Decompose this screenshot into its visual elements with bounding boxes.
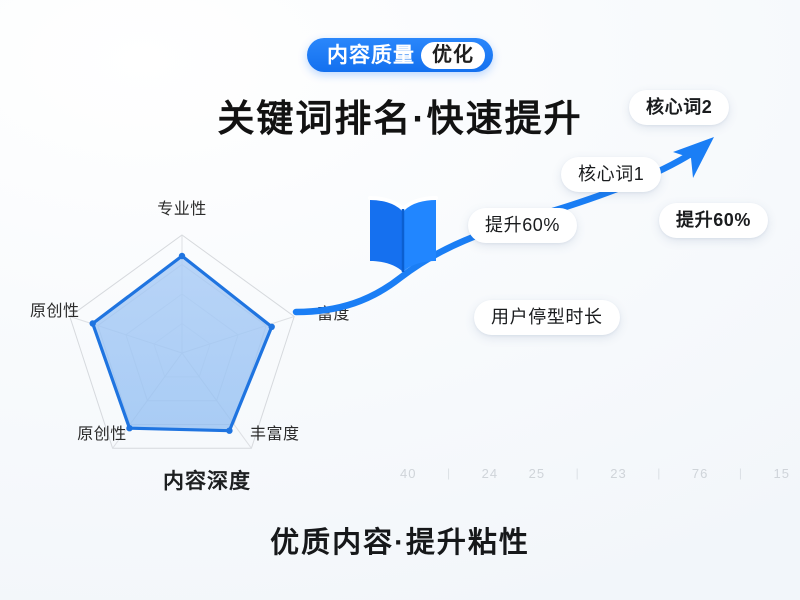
tick-label: 24 <box>482 466 498 481</box>
radar-chart: 专业性 富度 丰富度 原创性 原创性 <box>30 185 360 460</box>
tick-label: 25 <box>529 466 545 481</box>
radar-axis-label-bottom-left: 原创性 <box>77 420 127 444</box>
radar-axis-label-top: 专业性 <box>157 195 207 219</box>
content-depth-label: 内容深度 <box>163 465 251 495</box>
radar-chart-svg <box>30 185 360 460</box>
tick-mark: | <box>739 466 743 480</box>
tick-label: 40 <box>400 466 416 481</box>
tick-label: 15 <box>773 466 789 481</box>
tick-label: 23 <box>610 466 626 481</box>
badge-main-label: 内容质量 <box>327 45 415 66</box>
callout-core-keyword-2[interactable]: 核心词2 <box>629 90 729 125</box>
callout-uplift-right[interactable]: 提升60% <box>659 203 768 238</box>
open-book-icon <box>362 187 444 279</box>
callout-dwell-time[interactable]: 用户停型时长 <box>474 300 620 335</box>
tick-mark: | <box>447 466 451 480</box>
tick-mark: | <box>576 466 580 480</box>
poster-canvas: 内容质量 优化 关键词排名·快速提升 <box>0 0 800 600</box>
radar-axis-label-left: 原创性 <box>30 297 80 321</box>
footer-caption: 优质内容·提升粘性 <box>0 519 800 561</box>
faint-tick-axis: 40 | 24 25 | 23 | 76 | 15 <box>400 462 790 484</box>
radar-axis-label-bottom-right: 丰富度 <box>250 420 300 444</box>
radar-series-polygon <box>93 256 272 431</box>
tick-label: 76 <box>692 466 708 481</box>
callout-uplift-left[interactable]: 提升60% <box>468 208 577 243</box>
badge-chip-label: 优化 <box>421 42 485 69</box>
radar-axis-label-right: 富度 <box>317 300 350 324</box>
content-quality-badge: 内容质量 优化 <box>307 38 493 72</box>
callout-core-keyword-1[interactable]: 核心词1 <box>561 157 661 192</box>
tick-mark: | <box>657 466 661 480</box>
